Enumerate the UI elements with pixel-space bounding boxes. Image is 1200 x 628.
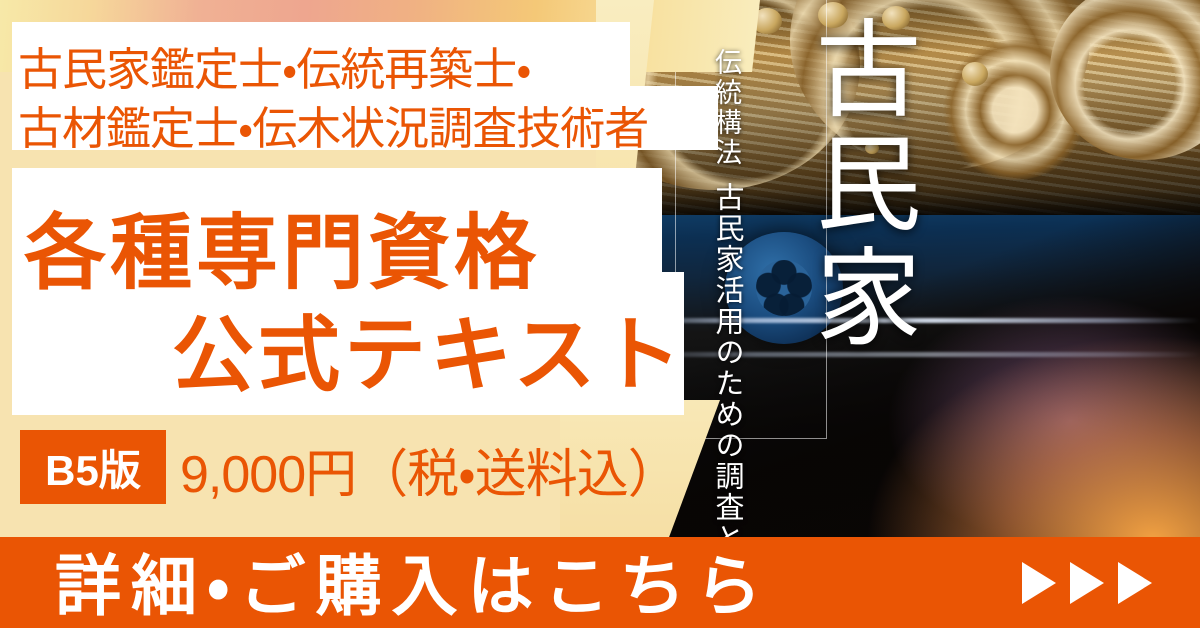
subtitle-line-1: 古民家鑑定士・伝統再築士・ [18, 33, 531, 98]
headline-line-2: 公式テキスト [172, 288, 686, 407]
subtitle-line-2: 古材鑑定士・伝木状況調査技術者 [18, 92, 648, 157]
triangle-right-icon [1070, 562, 1104, 604]
triangle-right-icon [1118, 562, 1152, 604]
format-badge: B5版 [20, 430, 166, 504]
cta-bar[interactable]: 詳細・ご購入はこちら [0, 537, 1200, 628]
triangle-right-icon [1022, 562, 1056, 604]
wood-bead [962, 62, 988, 86]
book-cover-title: 古民家 [800, 14, 914, 356]
cta-label: 詳細・ご購入はこちら [55, 533, 771, 628]
format-badge-label: B5版 [20, 430, 166, 504]
cta-arrows [1022, 562, 1152, 604]
price-text: 9,000円（税・送料込） [180, 432, 679, 507]
promo-banner: 伝統構法 古民家活用のための調査と再生の 古民家 古民家鑑定士・伝統再築士・ 古… [0, 0, 1200, 628]
